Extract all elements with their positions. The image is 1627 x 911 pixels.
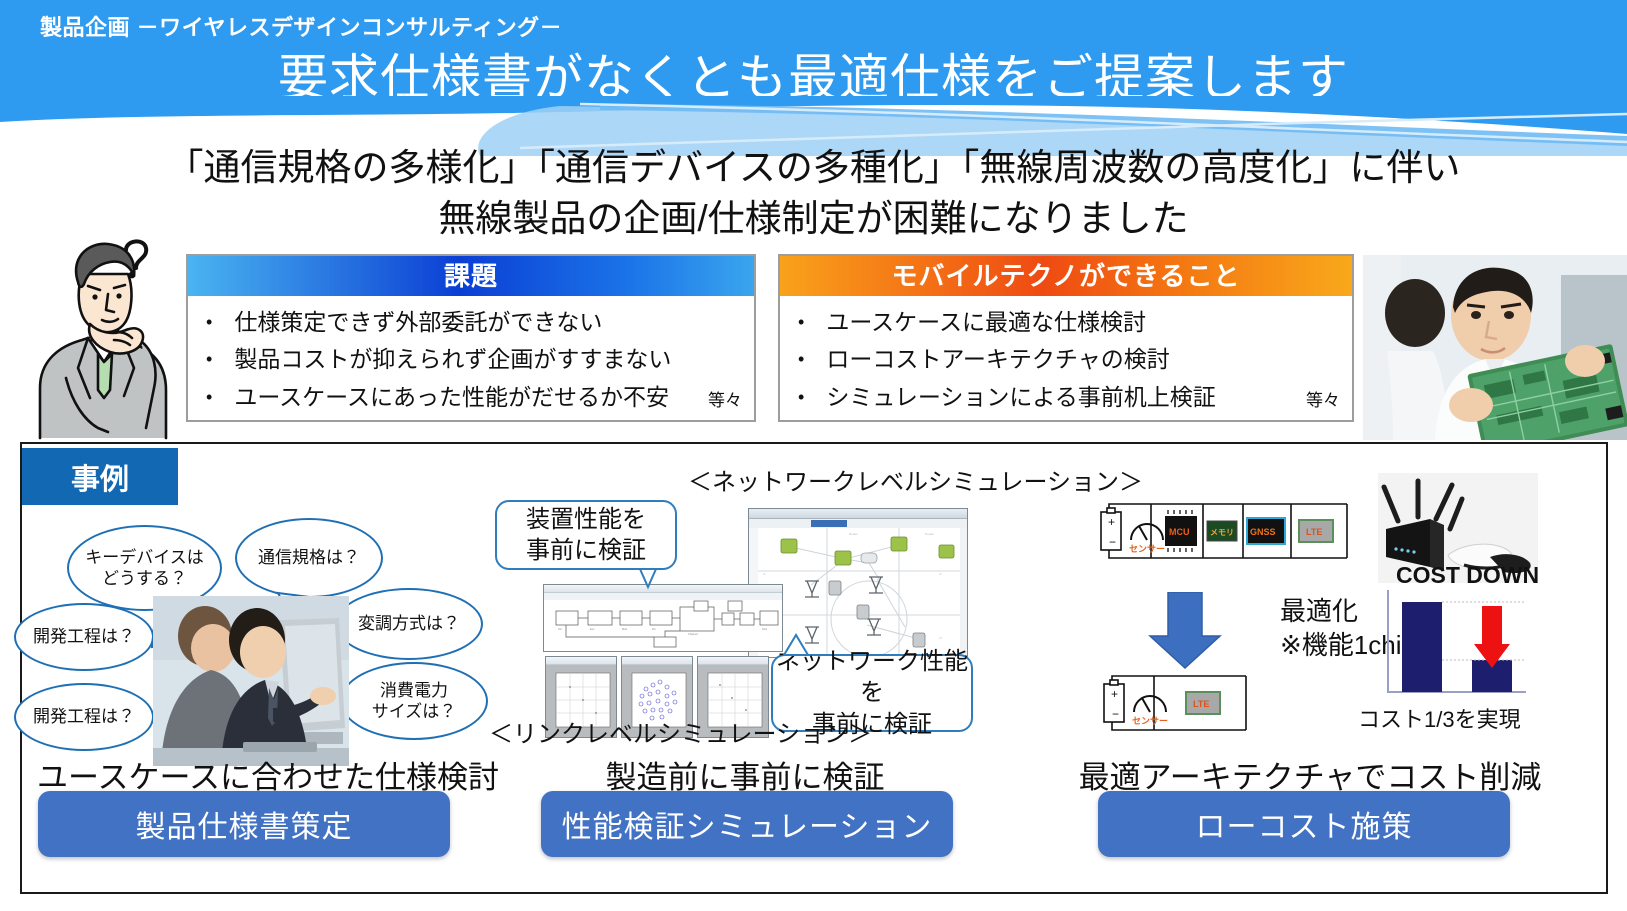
list-item: • ユースケースにあった性能がだせるか不安: [206, 379, 748, 416]
panel-capabilities-title: モバイルテクノができること: [780, 256, 1352, 296]
list-item-label: 仕様策定できず外部委託ができない: [234, 310, 602, 334]
lead-text: 「通信規格の多様化」「通信デバイスの多種化」「無線周波数の高度化」に伴い 無線製…: [0, 142, 1627, 244]
panel-capabilities: モバイルテクノができること • ユースケースに最適な仕様検討 • ローコストアー…: [778, 254, 1354, 422]
bullet-icon: •: [798, 347, 804, 371]
list-item-label: シミュレーションによる事前机上検証: [826, 385, 1215, 409]
network-sim-label: ＜ネットワークレベルシミュレーション＞: [688, 462, 1143, 497]
svg-text:センサー: センサー: [1129, 544, 1165, 554]
cta-button-performance-sim[interactable]: 性能検証シミュレーション: [541, 791, 953, 857]
list-item: • シミュレーションによる事前机上検証: [798, 379, 1346, 416]
svg-text:センサー: センサー: [1132, 716, 1168, 726]
list-item: • ローコストアーキテクチャの検討: [798, 341, 1346, 378]
svg-text:LTE: LTE: [1306, 527, 1322, 537]
list-item-label: 製品コストが抑えられず企画がすすまない: [234, 347, 671, 371]
optimize-arrow-icon: [1148, 592, 1222, 670]
cost-down-caption: コスト1/3を実現: [1358, 702, 1521, 734]
thinking-person-illustration: [26, 228, 186, 440]
list-item: • ユースケースに最適な仕様検討: [798, 304, 1346, 341]
panel-issues-title: 課題: [188, 256, 754, 296]
cta-button-product-spec[interactable]: 製品仕様書策定: [38, 791, 450, 857]
svg-text:GNSS: GNSS: [1250, 527, 1276, 537]
svg-text:メモリ: メモリ: [1210, 528, 1234, 537]
list-item: • 仕様策定できず外部委託ができない: [206, 304, 748, 341]
panel-capabilities-etc: 等々: [1306, 386, 1340, 411]
panel-issues-body: • 仕様策定できず外部委託ができない • 製品コストが抑えられず企画がすすまない…: [188, 296, 754, 420]
cost-down-chart-svg: [1380, 588, 1528, 700]
bullet-icon: •: [206, 385, 212, 409]
svg-text:−: −: [1109, 535, 1116, 549]
optimize-line-1: 最適化: [1280, 596, 1358, 626]
svg-text:+: +: [1108, 515, 1115, 529]
cta-button-low-cost[interactable]: ローコスト施策: [1098, 791, 1510, 857]
list-item-label: ユースケースにあった性能がだせるか不安: [234, 385, 669, 409]
engineer-photo: [1363, 255, 1627, 440]
sim-bubble-tails: [490, 495, 990, 745]
panel-issues: 課題 • 仕様策定できず外部委託ができない • 製品コストが抑えられず企画がすす…: [186, 254, 756, 422]
list-item-label: ローコストアーキテクチャの検討: [826, 347, 1169, 371]
bullet-icon: •: [206, 310, 212, 334]
case-study-tag: 事例: [22, 448, 178, 505]
svg-text:MCU: MCU: [1169, 527, 1190, 537]
bullet-icon: •: [798, 385, 804, 409]
header-eyebrow-sub: －ワイヤレスデザインコンサルティング－: [137, 15, 563, 40]
meeting-photo: [153, 596, 349, 766]
svg-text:+: +: [1111, 687, 1118, 701]
cost-down-chart: [1380, 588, 1528, 700]
list-item-label: ユースケースに最適な仕様検討: [826, 310, 1146, 334]
slide-root: 製品企画 －ワイヤレスデザインコンサルティング－ 要求仕様書がなくとも最適仕様を…: [0, 0, 1627, 911]
lead-line-2: 無線製品の企画/仕様制定が困難になりました: [0, 193, 1627, 244]
panel-issues-etc: 等々: [708, 386, 742, 411]
meeting-photo-svg: [153, 596, 349, 766]
engineer-photo-svg: [1363, 255, 1627, 440]
thinker-svg: [26, 228, 186, 440]
panel-capabilities-body: • ユースケースに最適な仕様検討 • ローコストアーキテクチャの検討 • シミュ…: [780, 296, 1352, 420]
lead-line-1: 「通信規格の多様化」「通信デバイスの多種化」「無線周波数の高度化」に伴い: [167, 147, 1461, 188]
bullet-icon: •: [206, 347, 212, 371]
header-eyebrow-main: 製品企画: [40, 15, 130, 40]
link-sim-label: ＜リンクレベルシミュレーション＞: [489, 714, 872, 749]
svg-text:LTE: LTE: [1193, 699, 1209, 709]
architecture-after-diagram: + − センサー LTE: [1098, 660, 1308, 740]
cost-down-title: COST DOWN: [1396, 562, 1539, 589]
list-item: • 製品コストが抑えられず企画がすすまない: [206, 341, 748, 378]
svg-text:−: −: [1112, 707, 1119, 721]
architecture-before-diagram: + − センサー MCU メモリ GNSS LTE: [1095, 488, 1365, 568]
bullet-icon: •: [798, 310, 804, 334]
